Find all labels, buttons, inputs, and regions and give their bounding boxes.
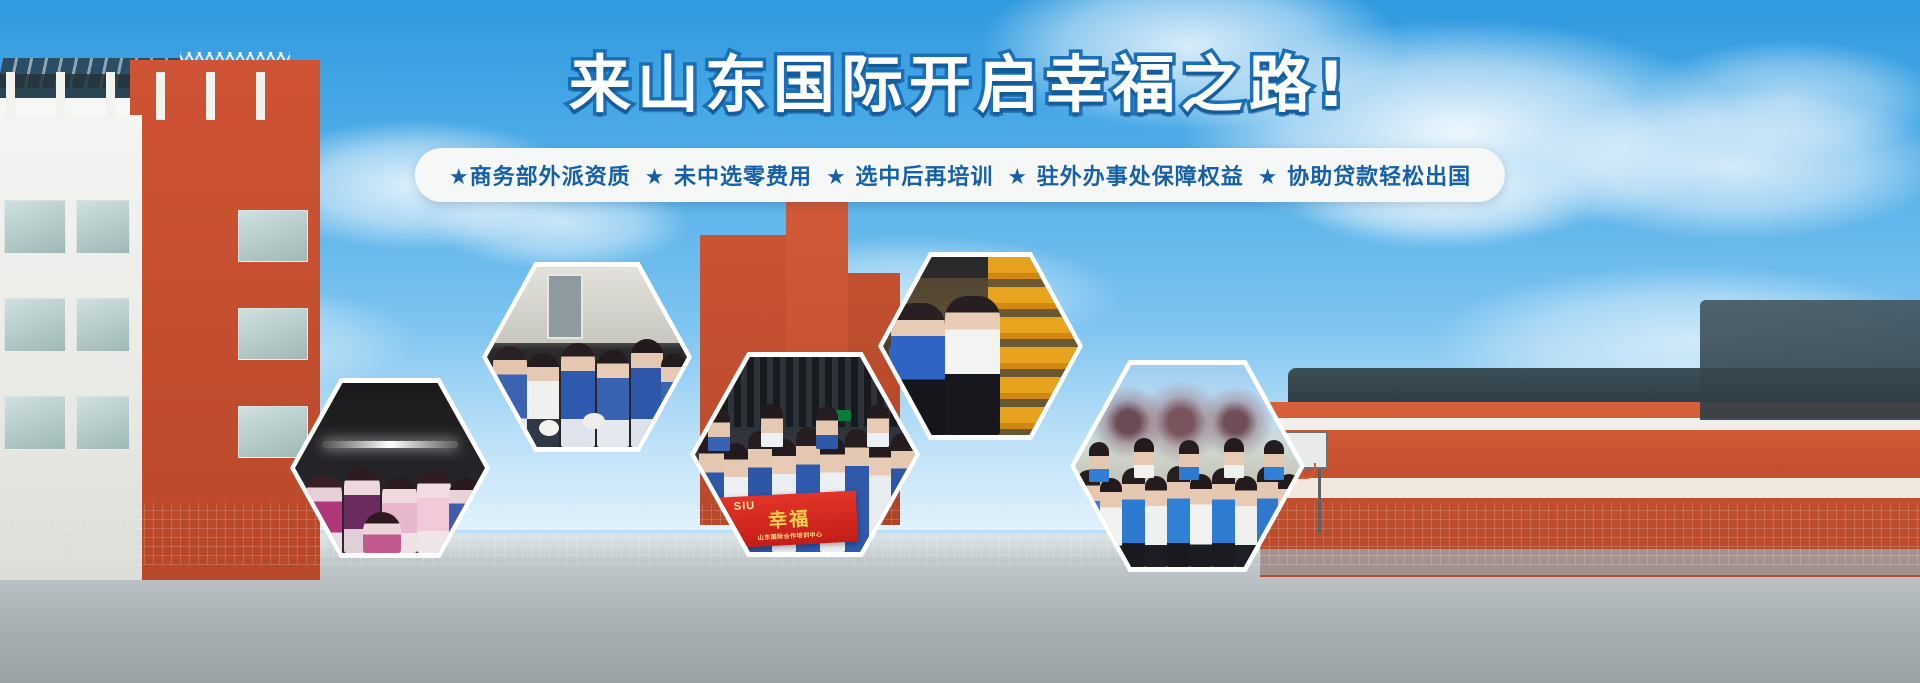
- person-figure: [561, 343, 595, 447]
- building-window: [4, 396, 66, 450]
- person-figure: [891, 433, 915, 552]
- blossom-trees-group-photo: [1075, 365, 1300, 567]
- food-plate-icon: [583, 413, 605, 429]
- person-figure: [661, 353, 687, 447]
- person-figure: [1134, 438, 1154, 478]
- food-preparation-photo: [487, 267, 687, 447]
- banner-main-text: 幸福: [768, 510, 811, 531]
- building-window: [76, 396, 130, 450]
- building-window: [238, 210, 308, 262]
- person-figure: [1179, 440, 1199, 480]
- feature-item-4: ★ 驻外办事处保障权益: [1007, 159, 1243, 191]
- person-figure: [631, 339, 663, 447]
- person-figure: [891, 303, 946, 435]
- photo-tile-blossom-group[interactable]: [1070, 360, 1305, 572]
- person-figure: [1145, 476, 1168, 567]
- promo-banner: 来山东国际开启幸福之路! ★商务部外派资质 ★ 未中选零费用 ★ 选中后再培训 …: [0, 0, 1920, 683]
- person-figure: [1190, 474, 1213, 567]
- lanyard-icon: [889, 346, 895, 392]
- person-figure: [417, 471, 451, 553]
- person-figure: [363, 512, 401, 553]
- basketball-hoop-icon: [1318, 437, 1321, 533]
- campus-building-far-right: [1700, 300, 1920, 420]
- building-glass-block: [1700, 300, 1920, 420]
- photo-tile-food-preparation[interactable]: [482, 262, 692, 452]
- photo-tile-supermarket-work[interactable]: [878, 252, 1083, 440]
- person-figure: [1278, 474, 1301, 567]
- building-window: [4, 200, 66, 254]
- building-window: [4, 298, 66, 352]
- room-wall: [487, 267, 687, 343]
- person-figure: [597, 350, 629, 447]
- feature-pill: ★商务部外派资质 ★ 未中选零费用 ★ 选中后再培训 ★ 驻外办事处保障权益 ★…: [415, 148, 1505, 202]
- person-figure: [699, 435, 723, 552]
- person-figure: [1264, 440, 1284, 480]
- store-ceiling: [883, 257, 1078, 278]
- room-door: [547, 274, 583, 339]
- person-figure: [1122, 468, 1145, 567]
- person-figure: [1089, 442, 1109, 482]
- person-figure: [945, 296, 1000, 435]
- yukata-group-photo: [295, 383, 485, 553]
- person-figure: [1257, 466, 1280, 567]
- person-figure: [1100, 478, 1123, 567]
- person-figure: [449, 478, 481, 553]
- person-figure: [761, 404, 783, 447]
- stage-light: [322, 441, 459, 448]
- feature-item-1: ★商务部外派资质: [449, 159, 631, 191]
- supermarket-work-photo: [883, 257, 1078, 435]
- campus-building-left: [0, 60, 320, 580]
- person-figure: [1235, 476, 1258, 567]
- person-figure: [1224, 438, 1244, 478]
- banner-sub-text: 山东国际合作培训中心: [758, 529, 823, 541]
- person-figure: [708, 408, 730, 451]
- building-window-band: [1260, 478, 1920, 498]
- group-banner: SIU 幸福 山东国际合作培训中心: [720, 490, 859, 548]
- person-figure: [816, 406, 838, 449]
- building-window: [238, 308, 308, 360]
- feature-item-2: ★ 未中选零费用: [645, 159, 812, 191]
- building-window: [76, 298, 130, 352]
- feature-item-5: ★ 协助贷款轻松出国: [1258, 159, 1471, 191]
- person-figure: [1212, 468, 1235, 567]
- photo-tile-yukata-group[interactable]: [290, 378, 490, 558]
- person-figure: [1077, 470, 1100, 567]
- person-figure: [306, 475, 342, 553]
- person-figure: [493, 346, 527, 447]
- person-figure: [869, 441, 893, 552]
- person-figure: [1167, 466, 1190, 567]
- court-fence: [0, 503, 1920, 565]
- building-window: [76, 200, 130, 254]
- banner-logo-text: SIU: [734, 500, 756, 513]
- feature-item-3: ★ 选中后再培训: [826, 159, 993, 191]
- produce-shelf: [988, 257, 1078, 435]
- page-title: 来山东国际开启幸福之路!: [0, 34, 1920, 124]
